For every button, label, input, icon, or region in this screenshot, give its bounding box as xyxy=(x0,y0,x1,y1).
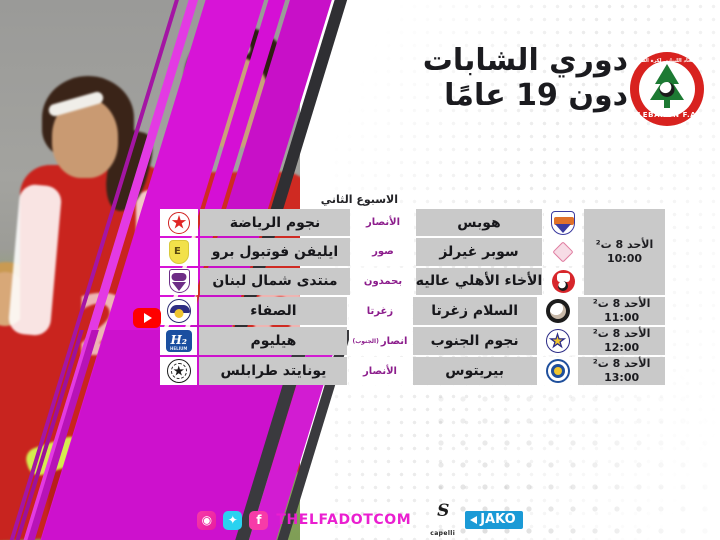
home-team: نجوم الرياضة xyxy=(200,209,350,236)
table-row: سوبر غيرلز صور ايليفن فوتبول برو E xyxy=(160,238,582,265)
match-time: 13:00 xyxy=(604,371,639,385)
venue-sub: (الجنوب) xyxy=(352,338,378,345)
home-team: هيليوم xyxy=(199,327,347,355)
venue-name: انصار xyxy=(381,336,408,347)
youtube-play-button[interactable] xyxy=(133,308,161,328)
away-team: السلام زغرتا xyxy=(413,297,537,325)
away-team: بيريتوس xyxy=(413,357,537,385)
jako-logo: JAKO xyxy=(465,511,522,529)
home-badge-cell xyxy=(160,297,197,325)
facebook-icon[interactable]: f xyxy=(249,511,268,530)
table-row: الأحد 8 ت² 12:00 نجوم الجنوب انصار(الجنو… xyxy=(160,327,665,355)
venue-cell: انصار(الجنوب) xyxy=(349,327,410,355)
venue-cell: الأنصار xyxy=(352,209,414,236)
venue-name: صور xyxy=(372,246,394,257)
table-row: الأحد 8 ت² 13:00 بيريتوس الأنصار يونايتد… xyxy=(160,357,665,385)
page-title: دوري الشابات دون 19 عامًا xyxy=(298,44,628,114)
away-team: سوبر غيرلز xyxy=(416,238,542,265)
week-label: الاسبوع الثاني xyxy=(321,193,398,206)
lebanon-fa-crest-icon: الاتحاد اللبناني لكرة القدم LEBANON F.A xyxy=(630,52,704,126)
venue-cell: زغرتا xyxy=(349,297,410,325)
venue-cell: بحمدون xyxy=(352,268,414,295)
away-badge-cell xyxy=(539,327,576,355)
title-line-2: دون 19 عامًا xyxy=(298,79,628,114)
fixtures-graphic: 2 ANSAR F.C10 دوري الشابات دون 19 عامًا … xyxy=(0,0,720,540)
play-triangle-icon xyxy=(144,313,152,323)
safa-badge-icon xyxy=(167,299,191,323)
fixtures-group: الأحد 8 ت² 10:00 هوبس الأنصار نجوم الريا… xyxy=(160,209,665,295)
home-badge-cell xyxy=(160,209,198,236)
home-team: ايليفن فوتبول برو xyxy=(200,238,350,265)
time-cell: الأحد 8 ت² 11:00 xyxy=(578,297,665,325)
match-date: الأحد 8 ت² xyxy=(593,297,650,311)
match-time: 11:00 xyxy=(604,311,639,325)
fixtures-table: الأحد 8 ت² 10:00 هوبس الأنصار نجوم الريا… xyxy=(160,209,665,385)
crest-top-text: الاتحاد اللبناني لكرة القدم xyxy=(630,58,704,64)
akhaa-ahli-aley-badge-icon xyxy=(552,270,575,293)
super-girls-badge-icon xyxy=(551,240,575,264)
venue-name: الأنصار xyxy=(366,217,400,228)
home-badge-cell xyxy=(160,357,197,385)
capelli-logo: S capelli xyxy=(430,501,455,539)
time-cell: الأحد 8 ت² 12:00 xyxy=(578,327,665,355)
away-badge-cell xyxy=(539,357,576,385)
venue-name: الأنصار xyxy=(363,366,397,377)
nojoum-alriyada-badge-icon xyxy=(167,211,191,235)
capelli-label: capelli xyxy=(430,530,455,537)
instagram-icon[interactable]: ◉ xyxy=(197,511,216,530)
venue-name: زغرتا xyxy=(367,306,393,317)
twitter-icon[interactable]: ✦ xyxy=(223,511,242,530)
away-team: هوبس xyxy=(416,209,542,236)
away-badge-cell xyxy=(544,268,582,295)
title-line-1: دوري الشابات xyxy=(298,44,628,79)
venue-cell: الأنصار xyxy=(349,357,410,385)
beritus-badge-icon xyxy=(546,359,570,383)
capelli-mark-icon: S xyxy=(437,501,448,521)
helium-badge-icon: H₂HELIUM xyxy=(166,330,192,352)
time-cell: الأحد 8 ت² 10:00 xyxy=(584,209,665,295)
footer: ◉ ✦ f THELFADOTCOM S capelli JAKO xyxy=(0,506,720,534)
time-cell: الأحد 8 ت² 13:00 xyxy=(578,357,665,385)
table-row: الأحد 8 ت² 11:00 السلام زغرتا زغرتا الصف… xyxy=(160,297,665,325)
match-time: 12:00 xyxy=(604,341,639,355)
home-team: منتدى شمال لبنان xyxy=(200,268,350,295)
salam-zgharta-badge-icon xyxy=(546,299,570,323)
jako-mark-icon xyxy=(470,516,477,524)
table-row: الأخاء الأهلي عاليه بحمدون منتدى شمال لب… xyxy=(160,268,582,295)
away-badge-cell xyxy=(544,209,582,236)
match-date: الأحد 8 ت² xyxy=(596,238,653,252)
sponsor-logos: S capelli JAKO xyxy=(430,501,522,539)
crest-bottom-text: LEBANON F.A xyxy=(630,111,704,119)
match-date: الأحد 8 ت² xyxy=(593,357,650,371)
hoops-badge-icon xyxy=(551,211,575,235)
away-team: الأخاء الأهلي عاليه xyxy=(416,268,542,295)
home-team: يونايتد طرابلس xyxy=(199,357,347,385)
eleven-football-pro-badge-icon: E xyxy=(169,240,189,264)
venue-cell: صور xyxy=(352,238,414,265)
nojoum-aljanoub-badge-icon xyxy=(546,329,570,353)
home-team: الصفاء xyxy=(199,297,347,325)
match-time: 10:00 xyxy=(607,252,642,266)
montada-shamal-lebanon-badge-icon xyxy=(169,269,190,293)
united-tripoli-badge-icon xyxy=(167,359,191,383)
away-badge-cell xyxy=(544,238,582,265)
table-row: هوبس الأنصار نجوم الرياضة xyxy=(160,209,582,236)
match-date: الأحد 8 ت² xyxy=(593,327,650,341)
away-team: نجوم الجنوب xyxy=(413,327,537,355)
home-badge-cell xyxy=(160,268,198,295)
time-group: الأحد 8 ت² 10:00 xyxy=(584,209,665,295)
away-badge-cell xyxy=(539,297,576,325)
jako-label: JAKO xyxy=(480,513,515,527)
social-handle: THELFADOTCOM xyxy=(276,512,411,528)
home-badge-cell: E xyxy=(160,238,198,265)
home-badge-cell: H₂HELIUM xyxy=(160,327,197,355)
venue-name: بحمدون xyxy=(364,276,402,287)
